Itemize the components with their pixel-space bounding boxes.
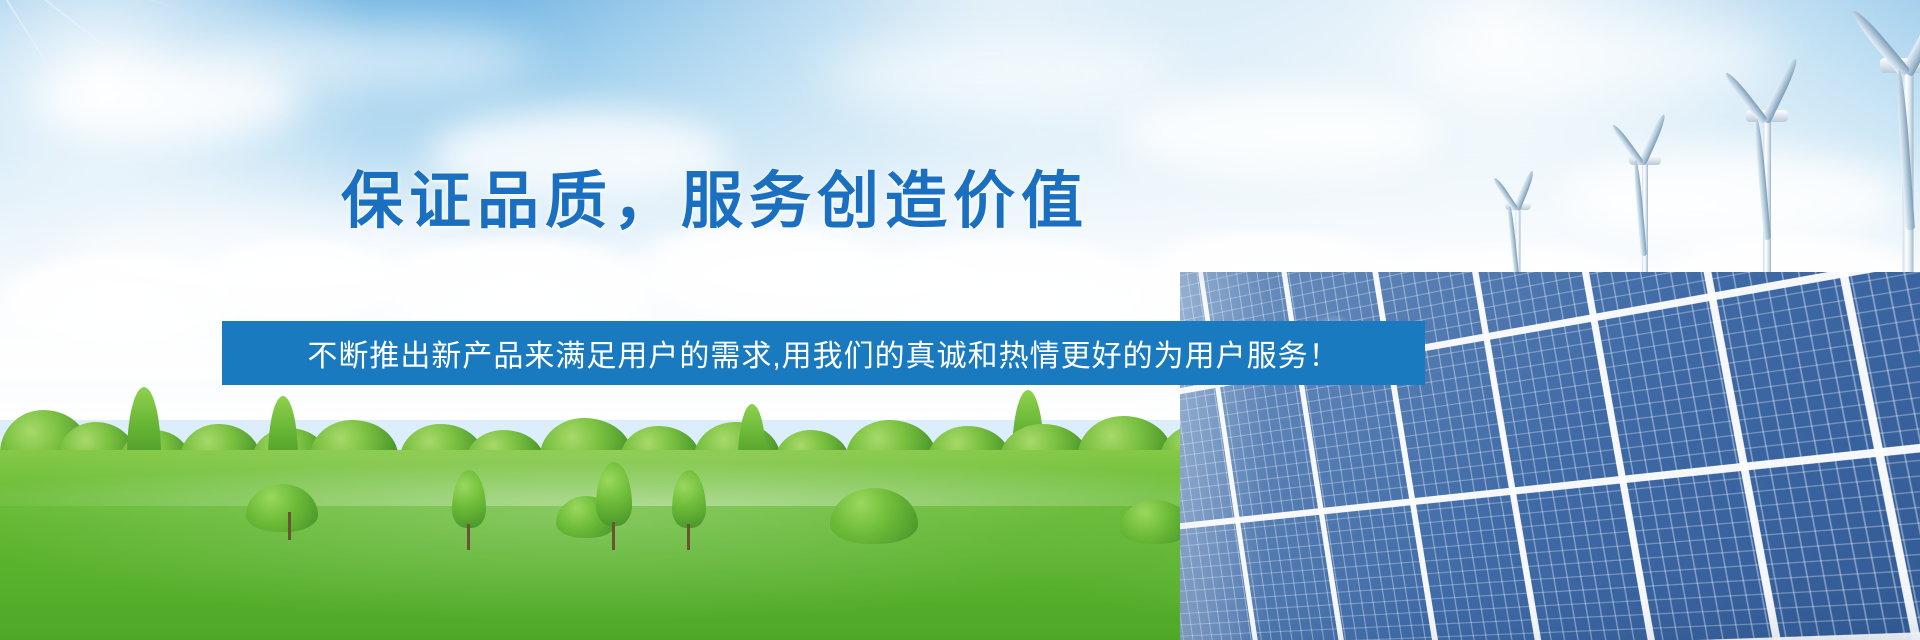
cloud-icon [640, 230, 1040, 320]
cloud-icon [200, 30, 540, 90]
cloud-icon [1120, 90, 1440, 175]
sapling-trunk [612, 522, 615, 550]
sapling-trunk [687, 524, 690, 550]
page-title: 保证品质，服务创造价值 [0, 168, 1430, 236]
cloud-icon [1400, 20, 1780, 95]
subtitle-banner: 不断推出新产品来满足用户的需求,用我们的真诚和热情更好的为用户服务！ [222, 321, 1425, 385]
sapling-trunk [467, 524, 470, 550]
sapling-trunk [288, 512, 291, 540]
subtitle-text: 不断推出新产品来满足用户的需求,用我们的真诚和热情更好的为用户服务！ [307, 331, 1339, 375]
cloud-icon [820, 40, 1180, 110]
hero-banner: 保证品质，服务创造价值 不断推出新产品来满足用户的需求,用我们的真诚和热情更好的… [0, 0, 1920, 640]
